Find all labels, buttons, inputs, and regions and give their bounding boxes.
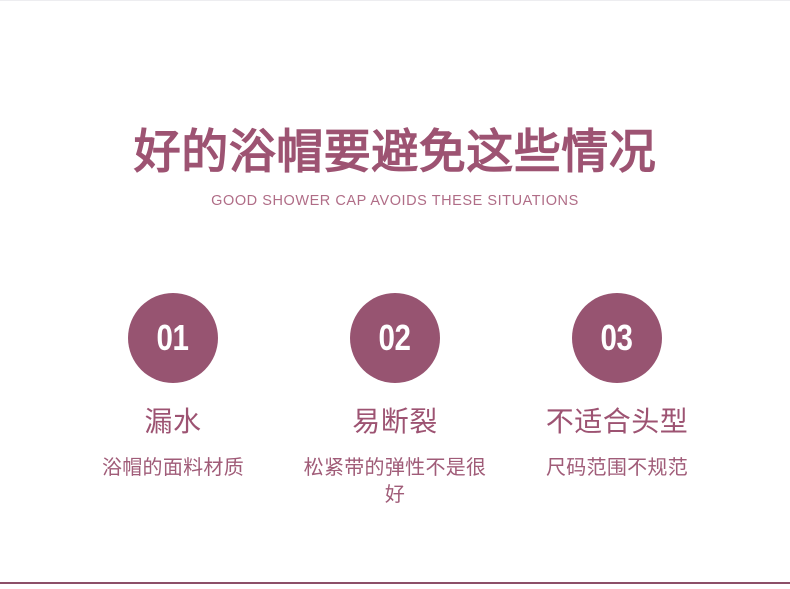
feature-item-3: 03 不适合头型 尺码范围不规范 <box>506 293 728 482</box>
badge-number-label: 03 <box>601 320 633 356</box>
feature-heading-1: 漏水 <box>144 405 201 439</box>
feature-item-2: 02 易断裂 松紧带的弹性不是很好 <box>284 293 506 509</box>
feature-description-2: 松紧带的弹性不是很好 <box>300 455 490 509</box>
feature-description-1: 浴帽的面料材质 <box>102 455 244 482</box>
feature-heading-3: 不适合头型 <box>546 405 689 439</box>
number-badge-01: 01 <box>128 293 218 383</box>
bottom-divider <box>0 582 790 584</box>
badge-number-label: 02 <box>379 320 411 356</box>
badge-number-label: 01 <box>157 320 189 356</box>
promo-banner: 好的浴帽要避免这些情况 GOOD SHOWER CAP AVOIDS THESE… <box>0 0 790 589</box>
header-block: 好的浴帽要避免这些情况 GOOD SHOWER CAP AVOIDS THESE… <box>0 122 790 210</box>
page-title: 好的浴帽要避免这些情况 <box>0 122 790 182</box>
page-subtitle: GOOD SHOWER CAP AVOIDS THESE SITUATIONS <box>0 192 790 210</box>
feature-heading-2: 易断裂 <box>352 405 438 439</box>
number-badge-02: 02 <box>350 293 440 383</box>
number-badge-03: 03 <box>572 293 662 383</box>
top-divider <box>0 0 790 1</box>
feature-columns: 01 漏水 浴帽的面料材质 02 易断裂 松紧带的弹性不是很好 03 不适合头型… <box>0 293 790 509</box>
feature-item-1: 01 漏水 浴帽的面料材质 <box>62 293 284 482</box>
feature-description-3: 尺码范围不规范 <box>546 455 688 482</box>
